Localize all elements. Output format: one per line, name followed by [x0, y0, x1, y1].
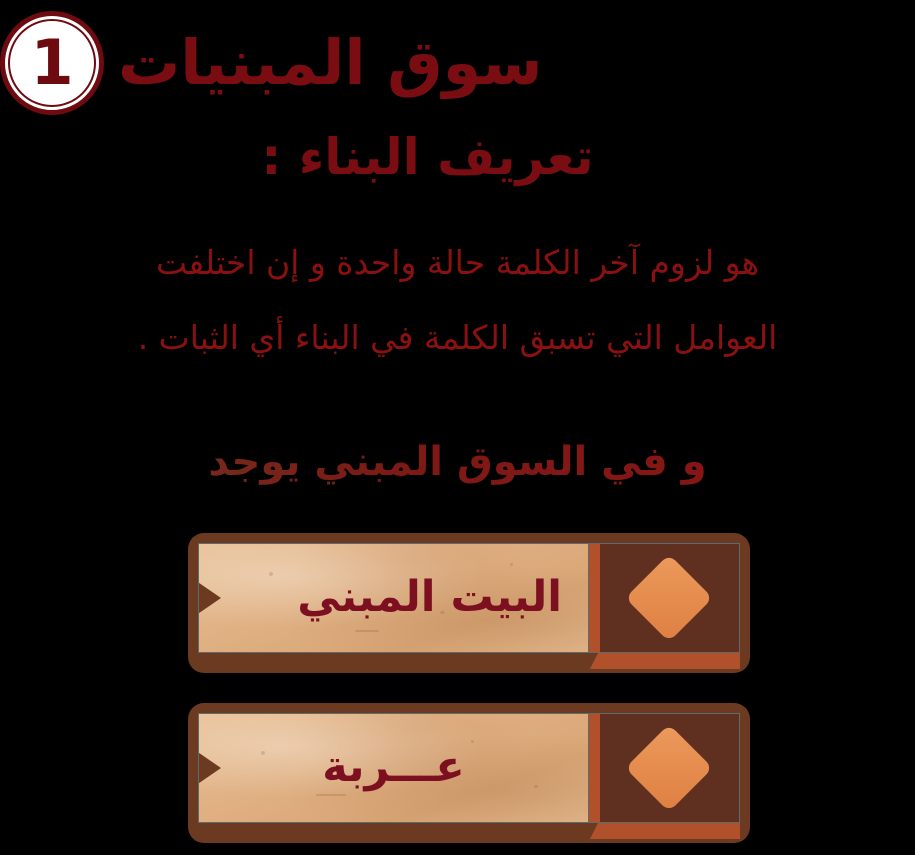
slide-number-badge: 1 — [0, 11, 104, 115]
card-text-panel: عـــربة — [199, 714, 589, 822]
header: 1 سوق المبنيات — [0, 8, 915, 118]
card-bevel-left — [590, 823, 740, 839]
diamond-icon — [625, 724, 713, 812]
diamond-icon — [625, 554, 713, 642]
slide-root: 1 سوق المبنيات تعريف البناء : هو لزوم آخ… — [0, 0, 915, 855]
page-title: سوق المبنيات — [118, 30, 542, 95]
texture-speck — [316, 794, 346, 796]
texture-speck — [355, 630, 379, 632]
card-bevel — [198, 823, 740, 839]
item-card[interactable]: عـــربة — [188, 703, 750, 843]
card-label: عـــربة — [199, 743, 588, 792]
card-inner: عـــربة — [198, 713, 740, 823]
item-card[interactable]: البيت المبني — [188, 533, 750, 673]
lead-in-text: و في السوق المبني يوجد — [0, 438, 915, 486]
card-bevel-right — [198, 823, 590, 839]
card-text-panel: البيت المبني — [199, 544, 589, 652]
slide-number-value: 1 — [30, 32, 73, 94]
card-label: البيت المبني — [199, 573, 588, 622]
texture-speck — [510, 563, 513, 566]
card-inner: البيت المبني — [198, 543, 740, 653]
card-bevel-left — [590, 653, 740, 669]
card-bevel — [198, 653, 740, 669]
card-bevel-right — [198, 653, 590, 669]
card-icon-panel — [589, 714, 739, 822]
definition-line-1: هو لزوم آخر الكلمة حالة واحدة و إن اختلف… — [14, 246, 901, 279]
definition-line-2: العوامل التي تسبق الكلمة في البناء أي ال… — [14, 321, 901, 354]
section-subtitle: تعريف البناء : — [0, 128, 915, 186]
card-icon-panel — [589, 544, 739, 652]
definition-paragraph: هو لزوم آخر الكلمة حالة واحدة و إن اختلف… — [0, 246, 915, 396]
